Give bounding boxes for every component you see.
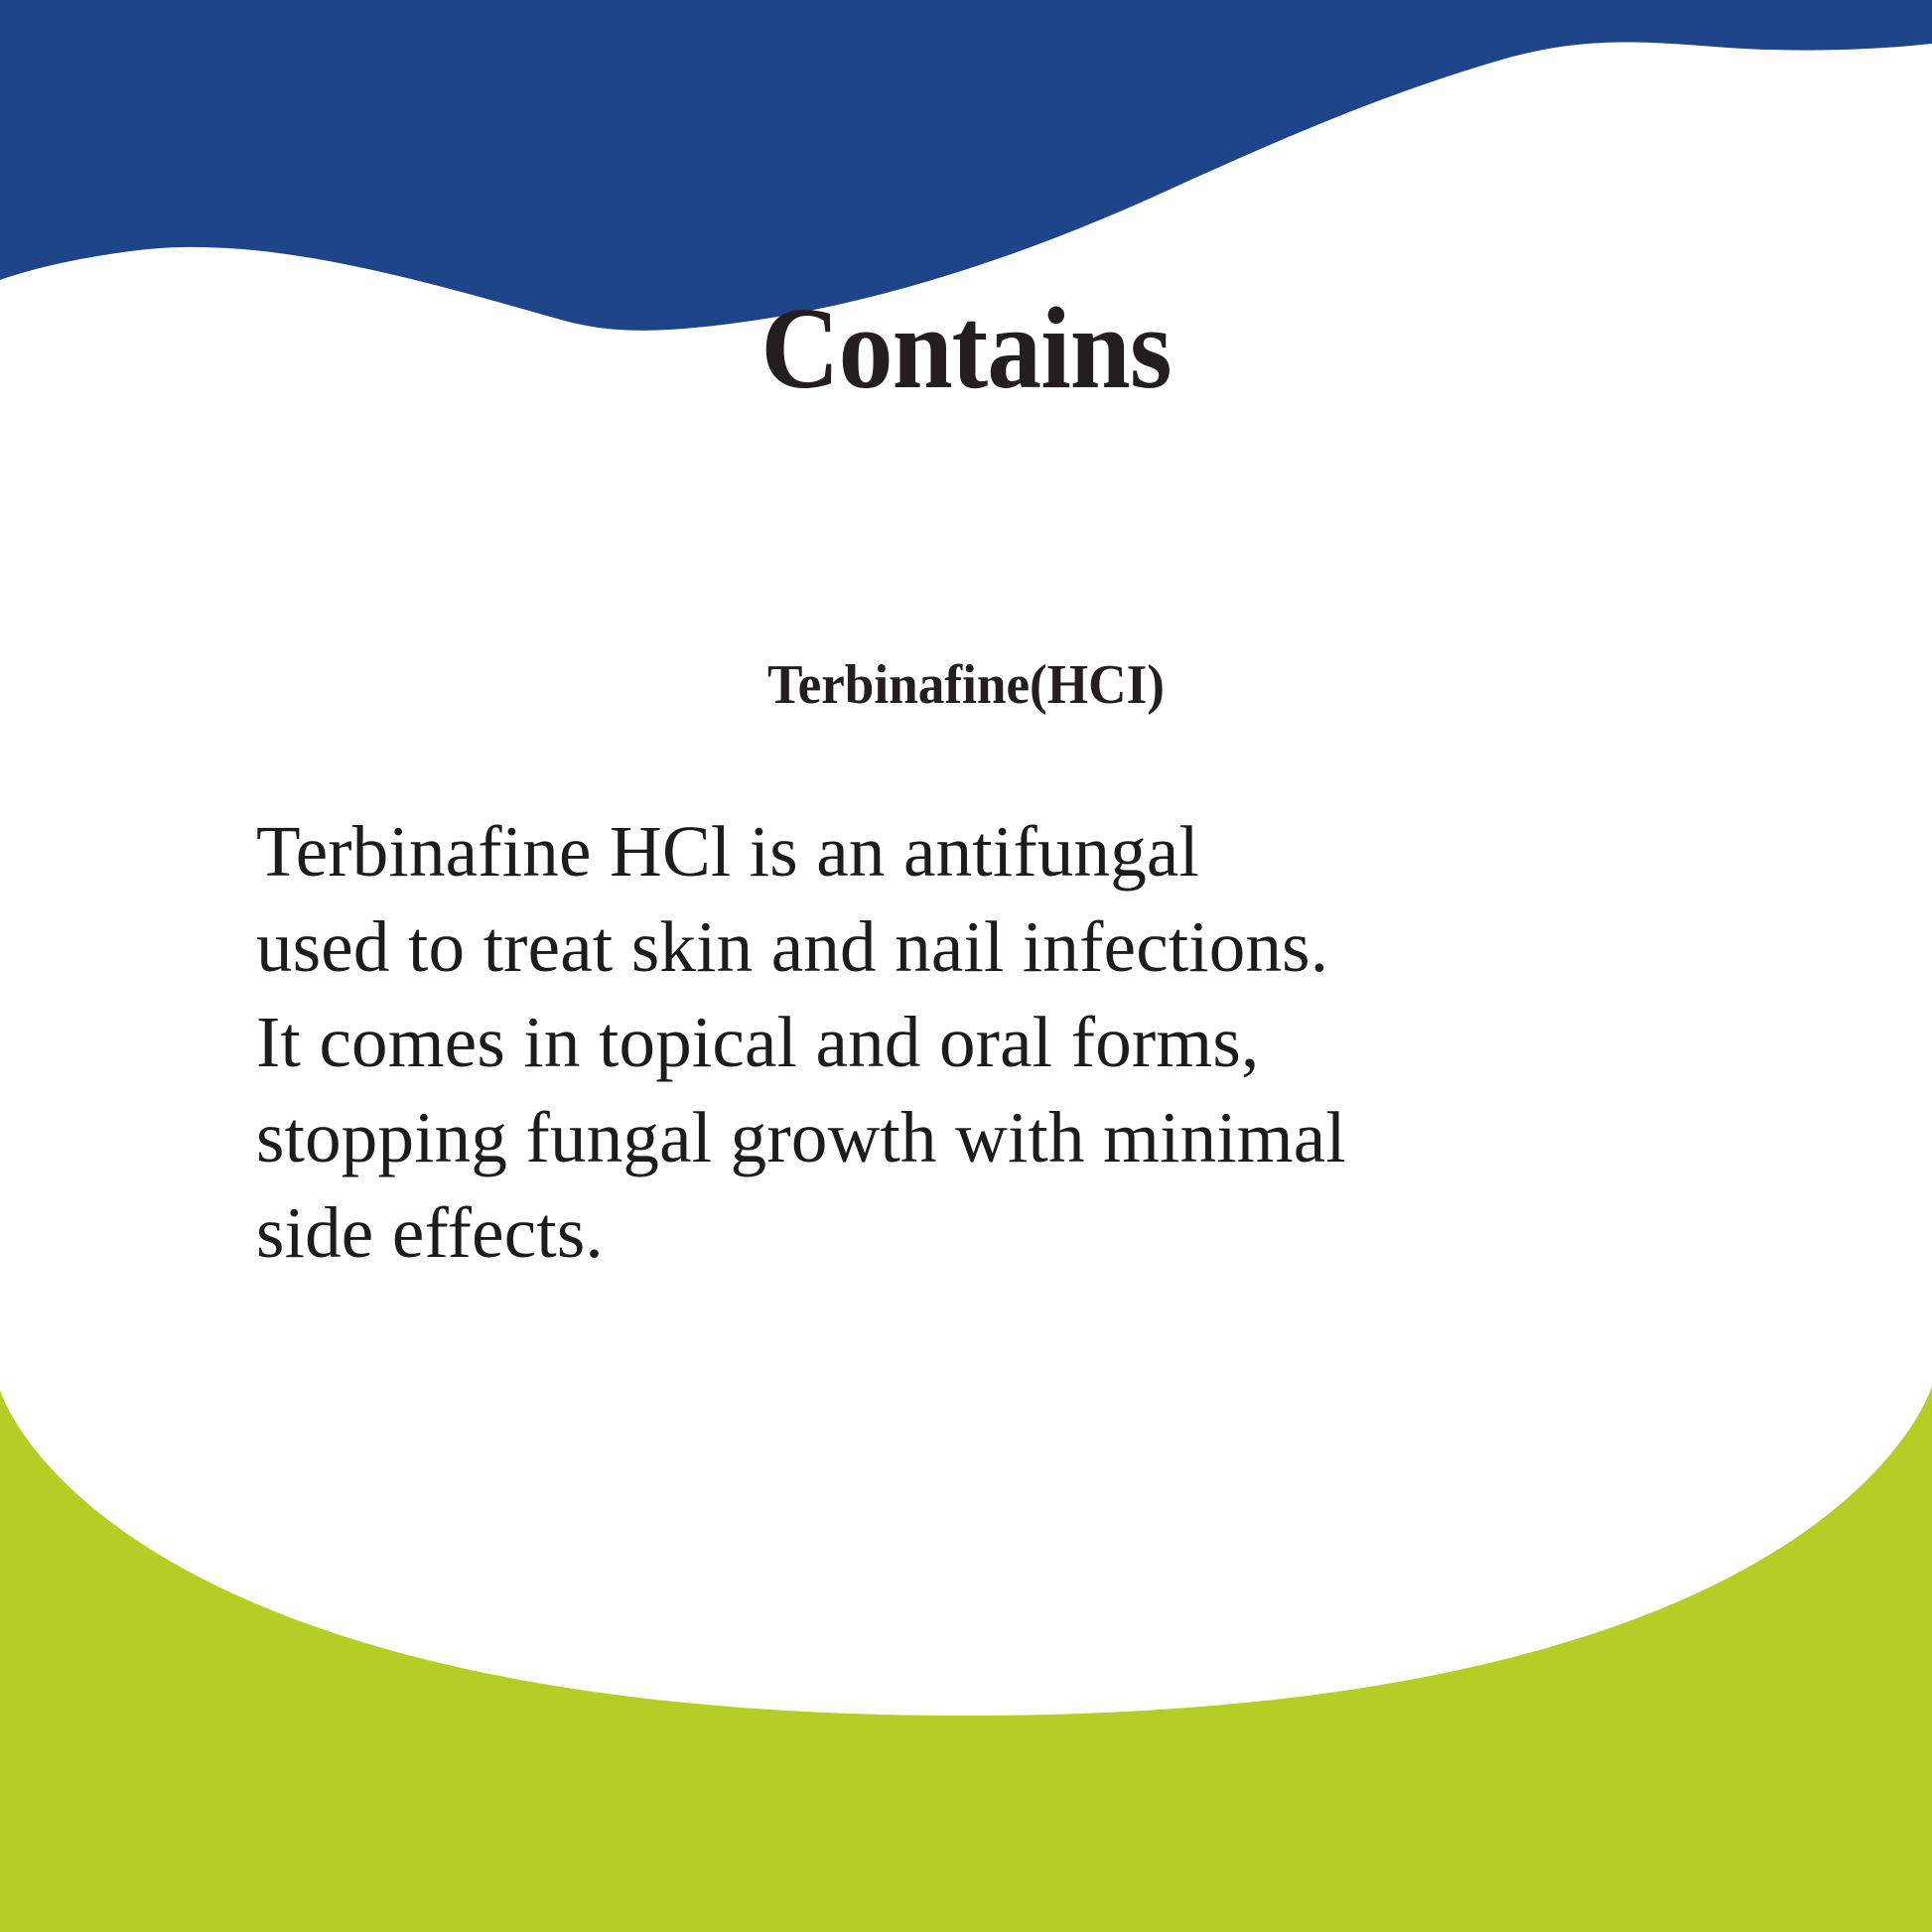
description-line-3: It comes in topical and oral forms, [256, 995, 1745, 1090]
ingredient-name: Terbinafine(HCI) [49, 657, 1884, 713]
description-line-5: side effects. [256, 1185, 1745, 1281]
poster-canvas: Contains Terbinafine(HCI) Terbinafine HC… [0, 0, 1932, 1932]
description-line-1: Terbinafine HCl is an antifungal [256, 804, 1745, 899]
ingredient-description: Terbinafine HCl is an antifungal used to… [256, 804, 1745, 1281]
page-title: Contains [68, 290, 1864, 407]
description-line-2: used to treat skin and nail infections. [256, 899, 1745, 995]
description-line-4: stopping fungal growth with minimal [256, 1090, 1745, 1185]
